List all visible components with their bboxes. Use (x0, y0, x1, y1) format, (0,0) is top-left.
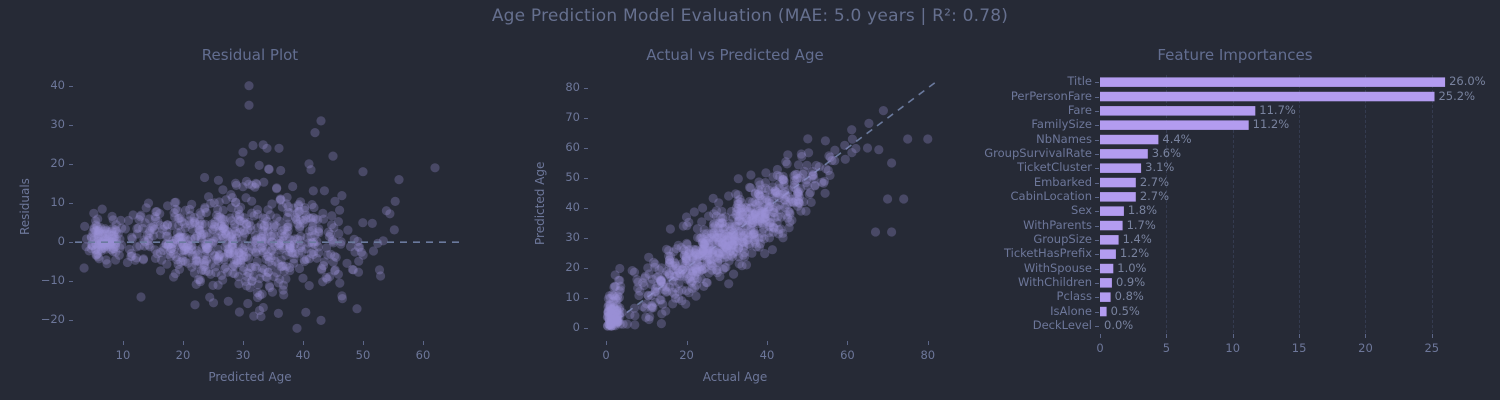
x-tick (363, 341, 364, 345)
feature-value-label: 11.7% (1259, 103, 1296, 117)
x-tick (1299, 334, 1300, 338)
residual-plot-title: Residual Plot (0, 46, 500, 64)
x-tick (847, 341, 848, 345)
feature-label: DeckLevel (970, 318, 1092, 332)
feature-label: WithParents (970, 218, 1092, 232)
feature-value-label: 1.0% (1117, 261, 1146, 275)
y-tick (1095, 269, 1099, 270)
actual-vs-predicted-area (590, 70, 960, 340)
feature-value-label: 0.5% (1111, 304, 1140, 318)
x-tick (1432, 334, 1433, 338)
y-tick (1095, 226, 1099, 227)
feature-label: CabinLocation (970, 189, 1092, 203)
y-tick-label: 80 (540, 80, 580, 94)
x-tick (1233, 334, 1234, 338)
y-tick-label: 20 (540, 260, 580, 274)
x-tick-label: 25 (1420, 341, 1444, 355)
y-tick (1095, 154, 1099, 155)
x-tick-label: 10 (111, 348, 135, 362)
feature-value-label: 1.4% (1123, 232, 1152, 246)
residual-plot-ylabel: Residuals (18, 178, 32, 235)
feature-value-label: 25.2% (1438, 89, 1475, 103)
feature-value-label: 11.2% (1253, 117, 1290, 131)
y-tick-label: −20 (23, 312, 65, 326)
y-tick (69, 164, 73, 165)
y-tick (1095, 168, 1099, 169)
y-tick (584, 208, 588, 209)
x-tick (1365, 334, 1366, 338)
feature-label: Embarked (970, 175, 1092, 189)
y-tick (69, 281, 73, 282)
feature-label: PerPersonFare (970, 89, 1092, 103)
y-tick (1095, 211, 1099, 212)
y-tick (1095, 254, 1099, 255)
x-tick-label: 20 (675, 348, 699, 362)
y-tick-label: 20 (23, 156, 65, 170)
feature-value-label: 3.6% (1152, 146, 1181, 160)
x-tick-label: 50 (351, 348, 375, 362)
y-tick-label: 40 (23, 78, 65, 92)
x-tick (1100, 334, 1101, 338)
x-tick-label: 10 (1221, 341, 1245, 355)
actual-vs-predicted-panel: Actual vs Predicted Age 0204060800102030… (500, 0, 970, 400)
y-tick (69, 203, 73, 204)
feature-label: GroupSurvivalRate (970, 146, 1092, 160)
feature-value-label: 1.7% (1127, 218, 1156, 232)
y-tick-label: 0 (540, 320, 580, 334)
x-tick-label: 40 (755, 348, 779, 362)
feature-value-label: 1.8% (1128, 203, 1157, 217)
y-tick (69, 242, 73, 243)
y-tick (1095, 197, 1099, 198)
x-tick-label: 60 (835, 348, 859, 362)
x-tick (183, 341, 184, 345)
x-tick-label: 0 (594, 348, 618, 362)
feature-value-label: 26.0% (1449, 74, 1486, 88)
x-tick (123, 341, 124, 345)
x-tick-label: 40 (291, 348, 315, 362)
y-tick (584, 118, 588, 119)
x-tick-label: 30 (231, 348, 255, 362)
y-tick (584, 268, 588, 269)
x-tick (1166, 334, 1167, 338)
feature-value-label: 4.4% (1162, 132, 1191, 146)
x-tick-label: 60 (411, 348, 435, 362)
y-tick-label: 10 (540, 290, 580, 304)
y-tick-label: 60 (540, 140, 580, 154)
x-tick-label: 20 (171, 348, 195, 362)
y-tick (1095, 125, 1099, 126)
y-tick (1095, 297, 1099, 298)
y-tick (69, 86, 73, 87)
residual-plot-xlabel: Predicted Age (0, 370, 500, 384)
x-tick (303, 341, 304, 345)
x-tick (423, 341, 424, 345)
feature-label: WithSpouse (970, 261, 1092, 275)
x-tick-label: 20 (1353, 341, 1377, 355)
y-tick (584, 298, 588, 299)
feature-label: FamilySize (970, 117, 1092, 131)
feature-label: Pclass (970, 289, 1092, 303)
y-tick (584, 328, 588, 329)
y-tick (1095, 312, 1099, 313)
y-tick (584, 238, 588, 239)
y-tick (1095, 326, 1099, 327)
feature-value-label: 2.7% (1140, 175, 1169, 189)
residual-plot-panel: Residual Plot 102030405060403020100−10−2… (0, 0, 500, 400)
x-tick (767, 341, 768, 345)
feature-label: IsAlone (970, 304, 1092, 318)
feature-value-label: 0.9% (1116, 275, 1145, 289)
y-tick (1095, 240, 1099, 241)
x-tick-label: 80 (916, 348, 940, 362)
feature-label: NbNames (970, 132, 1092, 146)
actual-vs-predicted-xlabel: Actual Age (500, 370, 970, 384)
actual-vs-predicted-title: Actual vs Predicted Age (500, 46, 970, 64)
y-tick (1095, 283, 1099, 284)
y-tick (1095, 82, 1099, 83)
feature-label: GroupSize (970, 232, 1092, 246)
feature-importances-panel: Feature Importances TitlePerPersonFareFa… (970, 0, 1500, 400)
feature-value-label: 0.0% (1104, 318, 1133, 332)
y-tick-label: 0 (23, 234, 65, 248)
x-tick (243, 341, 244, 345)
y-tick-label: 70 (540, 110, 580, 124)
x-tick (606, 341, 607, 345)
feature-label: TicketCluster (970, 160, 1092, 174)
feature-label: Sex (970, 203, 1092, 217)
y-tick (1095, 97, 1099, 98)
x-tick-label: 0 (1088, 341, 1112, 355)
feature-label: Fare (970, 103, 1092, 117)
x-tick (687, 341, 688, 345)
y-tick (1095, 183, 1099, 184)
x-tick (928, 341, 929, 345)
feature-value-label: 0.8% (1115, 289, 1144, 303)
feature-value-label: 1.2% (1120, 246, 1149, 260)
feature-label: WithChildren (970, 275, 1092, 289)
y-tick-label: 30 (23, 117, 65, 131)
feature-value-label: 2.7% (1140, 189, 1169, 203)
feature-label: TicketHasPrefix (970, 246, 1092, 260)
feature-label: Title (970, 74, 1092, 88)
x-tick-label: 15 (1287, 341, 1311, 355)
y-tick-label: −10 (23, 273, 65, 287)
residual-plot-area (75, 70, 465, 340)
actual-vs-predicted-ylabel: Predicted Age (533, 162, 547, 245)
y-tick (584, 178, 588, 179)
y-tick (1095, 111, 1099, 112)
y-tick (584, 148, 588, 149)
y-tick (1095, 140, 1099, 141)
feature-importances-title: Feature Importances (970, 46, 1500, 64)
y-tick (69, 320, 73, 321)
feature-value-label: 3.1% (1145, 160, 1174, 174)
y-tick (69, 125, 73, 126)
y-tick (584, 88, 588, 89)
x-tick-label: 5 (1154, 341, 1178, 355)
